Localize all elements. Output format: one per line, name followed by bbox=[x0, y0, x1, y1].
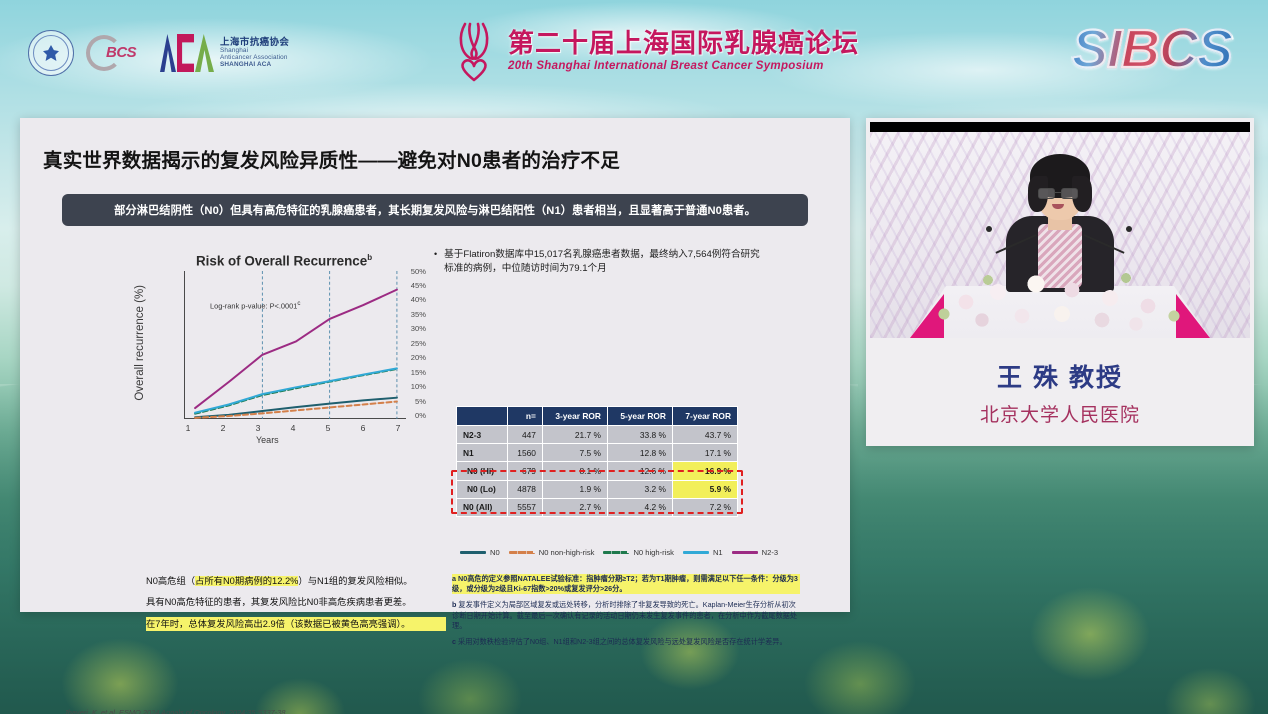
col-header-5y: 5-year ROR bbox=[607, 407, 672, 426]
cell-n-n0-lo: 4878 bbox=[507, 480, 542, 498]
table-header-row: n= 3-year ROR 5-year ROR 7-year ROR bbox=[457, 407, 738, 426]
symposium-logo: 第二十届上海国际乳腺癌论坛 20th Shanghai Internationa… bbox=[452, 18, 859, 84]
bcs-logo-label: BCS bbox=[106, 44, 136, 61]
video-stage-backdrop bbox=[870, 132, 1250, 338]
aca-letter-a-green-icon bbox=[195, 34, 214, 72]
ror-table: n= 3-year ROR 5-year ROR 7-year ROR N2-3… bbox=[456, 406, 738, 517]
microphone-right-head-icon bbox=[1126, 226, 1132, 232]
glasses-bridge-icon bbox=[1055, 192, 1061, 193]
slide-citation: Jhaveri, K. et al. ESMO 2024 Annals of O… bbox=[64, 708, 288, 714]
cell-3y-n1: 7.5 % bbox=[542, 444, 607, 462]
chart-pvalue-text: Log-rank p-value: P<.0001 bbox=[210, 301, 297, 310]
aca-english-line3: SHANGHAI ACA bbox=[220, 62, 289, 69]
row-label-n0-lo: N0 (Lo) bbox=[457, 480, 508, 498]
chart-xtick-1: 1 bbox=[178, 423, 198, 433]
list-item: N0高危组（占所有N0期病例的12.2%）与N1组的复发风险相似。 bbox=[146, 574, 446, 588]
legend-item-n2-3: N2-3 bbox=[732, 548, 778, 557]
col-header-n: n= bbox=[507, 407, 542, 426]
cell-n-n1: 1560 bbox=[507, 444, 542, 462]
cell-3y-n0-hi: 8.1 % bbox=[542, 462, 607, 480]
footnote-c-marker: c bbox=[452, 637, 456, 646]
finding-2-text: 具有N0高危特征的患者，其复发风险比N0非高危疾病患者更差。 bbox=[146, 597, 412, 607]
chart-xtick-4: 4 bbox=[283, 423, 303, 433]
aca-logo: 上海市抗癌协会 Shanghai Anticancer Association … bbox=[160, 34, 289, 72]
legend-label-n2-3: N2-3 bbox=[762, 548, 778, 557]
glasses-right-lens-icon bbox=[1061, 188, 1078, 199]
legend-swatch-n0 bbox=[460, 551, 486, 554]
footnote-a: a N0高危的定义参照NATALEE试验标准：指肿瘤分期≥T2；若为T1期肿瘤，… bbox=[452, 574, 800, 594]
study-summary-block: • 基于Flatiron数据库中15,017名乳腺癌患者数据，最终纳入7,564… bbox=[434, 248, 764, 276]
aca-mark-icon bbox=[160, 34, 214, 72]
cell-3y-n0-all: 2.7 % bbox=[542, 498, 607, 516]
chart-xtick-2: 2 bbox=[213, 423, 233, 433]
chart-x-axis-label: Years bbox=[256, 435, 279, 445]
symposium-title-block: 第二十届上海国际乳腺癌论坛 20th Shanghai Internationa… bbox=[508, 30, 859, 72]
symposium-title-cn: 第二十届上海国际乳腺癌论坛 bbox=[508, 30, 859, 57]
shanghai-breast-cancer-seal-icon bbox=[28, 30, 74, 76]
aca-letter-a-blue-icon bbox=[160, 34, 176, 72]
study-summary-bullet: • 基于Flatiron数据库中15,017名乳腺癌患者数据，最终纳入7,564… bbox=[434, 248, 764, 276]
legend-label-n0-non-high-risk: N0 non-high-risk bbox=[539, 548, 595, 557]
slide-key-message-banner: 部分淋巴结阴性（N0）但具有高危特征的乳腺癌患者，其长期复发风险与淋巴结阳性（N… bbox=[62, 194, 808, 226]
cell-5y-n0-lo: 3.2 % bbox=[607, 480, 672, 498]
chart-xtick-5: 5 bbox=[318, 423, 338, 433]
table-row: N0 (All) 5557 2.7 % 4.2 % 7.2 % bbox=[457, 498, 738, 516]
chart-y-axis-label: Overall recurrence (%) bbox=[134, 285, 146, 401]
partner-logos: BCS 上海市抗癌协会 Shanghai Anticancer Associat… bbox=[28, 30, 289, 76]
slide-title: 真实世界数据揭示的复发风险异质性——避免对N0患者的治疗不足 bbox=[43, 144, 620, 173]
legend-swatch-n1 bbox=[683, 551, 709, 554]
chart-title-superscript: b bbox=[367, 253, 372, 262]
legend-label-n0-high-risk: N0 high-risk bbox=[633, 548, 674, 557]
cell-n-n0-all: 5557 bbox=[507, 498, 542, 516]
speaker-name: 王 殊 教授 bbox=[866, 358, 1254, 394]
cell-3y-n0-lo: 1.9 % bbox=[542, 480, 607, 498]
col-header-3y: 3-year ROR bbox=[542, 407, 607, 426]
legend-label-n0: N0 bbox=[490, 548, 500, 557]
footnote-a-text: N0高危的定义参照NATALEE试验标准：指肿瘤分期≥T2；若为T1期肿瘤，则需… bbox=[452, 574, 798, 593]
row-label-n1: N1 bbox=[457, 444, 508, 462]
chart-plot-area bbox=[184, 271, 406, 419]
cell-7y-n2-3: 43.7 % bbox=[672, 426, 737, 444]
chart-xtick-3: 3 bbox=[248, 423, 268, 433]
chart-title: Risk of Overall Recurrenceb bbox=[196, 253, 372, 268]
presentation-slide: 真实世界数据揭示的复发风险异质性——避免对N0患者的治疗不足 部分淋巴结阴性（N… bbox=[20, 118, 850, 612]
slide-banner-text: 部分淋巴结阴性（N0）但具有高危特征的乳腺癌患者，其长期复发风险与淋巴结阳性（N… bbox=[114, 202, 756, 218]
cell-3y-n2-3: 21.7 % bbox=[542, 426, 607, 444]
key-findings-list: N0高危组（占所有N0期病例的12.2%）与N1组的复发风险相似。 具有N0高危… bbox=[146, 574, 446, 638]
legend-swatch-n0-high-risk bbox=[603, 551, 629, 554]
row-label-n2-3: N2-3 bbox=[457, 426, 508, 444]
recurrence-chart: Risk of Overall Recurrenceb Overall recu… bbox=[140, 253, 426, 438]
legend-item-n0: N0 bbox=[460, 548, 500, 557]
row-label-n0-all: N0 (All) bbox=[457, 498, 508, 516]
legend-item-n0-non-high-risk: N0 non-high-risk bbox=[509, 548, 595, 557]
symposium-title-en: 20th Shanghai International Breast Cance… bbox=[508, 60, 859, 72]
legend-item-n0-high-risk: N0 high-risk bbox=[603, 548, 674, 557]
sibcs-brand-wordmark: SIBCS bbox=[1072, 22, 1232, 76]
footnote-a-marker: a bbox=[452, 574, 456, 583]
table-row: N0 (Hi) 679 8.1 % 12.6 % 16.9 % bbox=[457, 462, 738, 480]
footnote-b: b 复发事件定义为局部区域复发或远处转移，分析时排除了非复发导致的死亡。Kapl… bbox=[452, 600, 800, 631]
cell-5y-n2-3: 33.8 % bbox=[607, 426, 672, 444]
list-item: 具有N0高危特征的患者，其复发风险比N0非高危疾病患者更差。 bbox=[146, 595, 446, 609]
chart-pvalue-superscript: c bbox=[297, 300, 300, 307]
footnote-b-marker: b bbox=[452, 600, 456, 609]
cell-7y-n0-all: 7.2 % bbox=[672, 498, 737, 516]
seal-core-icon bbox=[43, 45, 59, 61]
legend-label-n1: N1 bbox=[713, 548, 723, 557]
legend-item-n1: N1 bbox=[683, 548, 723, 557]
speaker-organization: 北京大学人民医院 bbox=[866, 400, 1254, 427]
cell-n-n2-3: 447 bbox=[507, 426, 542, 444]
legend-swatch-n0-non-high-risk bbox=[509, 551, 535, 554]
cell-5y-n0-hi: 12.6 % bbox=[607, 462, 672, 480]
finding-3-text: 在7年时，总体复发风险高出2.9倍（该数据已被黄色高亮强调）。 bbox=[146, 619, 410, 629]
podium-flower-arrangement bbox=[926, 258, 1196, 336]
finding-1-suffix: ）与N1组的复发风险相似。 bbox=[298, 576, 412, 586]
footnote-c-text: 采用对数秩检验评估了N0组、N1组和N2-3组之间的总体复发风险与远处复发风险是… bbox=[458, 637, 787, 646]
row-label-n0-hi: N0 (Hi) bbox=[457, 462, 508, 480]
speaker-panel: 王 殊 教授 北京大学人民医院 bbox=[866, 118, 1254, 446]
study-summary-text: 基于Flatiron数据库中15,017名乳腺癌患者数据，最终纳入7,564例符… bbox=[444, 248, 764, 276]
microphone-left-head-icon bbox=[986, 226, 992, 232]
chart-xtick-6: 6 bbox=[353, 423, 373, 433]
speaker-video[interactable] bbox=[870, 122, 1250, 338]
bcs-logo-icon: BCS bbox=[86, 33, 148, 73]
bullet-dot-icon: • bbox=[434, 248, 437, 276]
table-row: N2-3 447 21.7 % 33.8 % 43.7 % bbox=[457, 426, 738, 444]
table-row: N0 (Lo) 4878 1.9 % 3.2 % 5.9 % bbox=[457, 480, 738, 498]
cell-7y-n1: 17.1 % bbox=[672, 444, 737, 462]
col-header-group bbox=[457, 407, 508, 426]
cell-7y-n0-lo: 5.9 % bbox=[672, 480, 737, 498]
cell-5y-n0-all: 4.2 % bbox=[607, 498, 672, 516]
breast-cancer-ribbon-icon bbox=[452, 18, 498, 84]
footnote-b-text: 复发事件定义为局部区域复发或远处转移，分析时排除了非复发导致的死亡。Kaplan… bbox=[452, 600, 797, 629]
footnote-c: c 采用对数秩检验评估了N0组、N1组和N2-3组之间的总体复发风险与远处复发风… bbox=[452, 637, 800, 647]
page-header: BCS 上海市抗癌协会 Shanghai Anticancer Associat… bbox=[0, 0, 1268, 112]
finding-1-highlight: 占所有N0期病例的12.2% bbox=[195, 576, 298, 586]
screen: BCS 上海市抗癌协会 Shanghai Anticancer Associat… bbox=[0, 0, 1268, 714]
chart-title-text: Risk of Overall Recurrence bbox=[196, 253, 367, 268]
ror-table-body: N2-3 447 21.7 % 33.8 % 43.7 % N1 1560 7.… bbox=[457, 426, 738, 517]
col-header-7y: 7-year ROR bbox=[672, 407, 737, 426]
legend-swatch-n2-3 bbox=[732, 551, 758, 554]
footnotes-block: a N0高危的定义参照NATALEE试验标准：指肿瘤分期≥T2；若为T1期肿瘤，… bbox=[452, 574, 800, 653]
ror-table-head: n= 3-year ROR 5-year ROR 7-year ROR bbox=[457, 407, 738, 426]
chart-legend: N0 N0 non-high-risk N0 high-risk N1 N2-3 bbox=[460, 548, 778, 557]
aca-letter-c-pink-icon bbox=[177, 34, 194, 72]
glasses-left-lens-icon bbox=[1038, 188, 1055, 199]
chart-xtick-7: 7 bbox=[388, 423, 408, 433]
cell-n-n0-hi: 679 bbox=[507, 462, 542, 480]
finding-1-prefix: N0高危组（ bbox=[146, 576, 195, 586]
cell-7y-n0-hi: 16.9 % bbox=[672, 462, 737, 480]
aca-text-block: 上海市抗癌协会 Shanghai Anticancer Association … bbox=[220, 38, 289, 69]
cell-5y-n1: 12.8 % bbox=[607, 444, 672, 462]
list-item: 在7年时，总体复发风险高出2.9倍（该数据已被黄色高亮强调）。 bbox=[146, 617, 446, 631]
chart-pvalue-annotation: Log-rank p-value: P<.0001c bbox=[210, 300, 300, 310]
table-row: N1 1560 7.5 % 12.8 % 17.1 % bbox=[457, 444, 738, 462]
